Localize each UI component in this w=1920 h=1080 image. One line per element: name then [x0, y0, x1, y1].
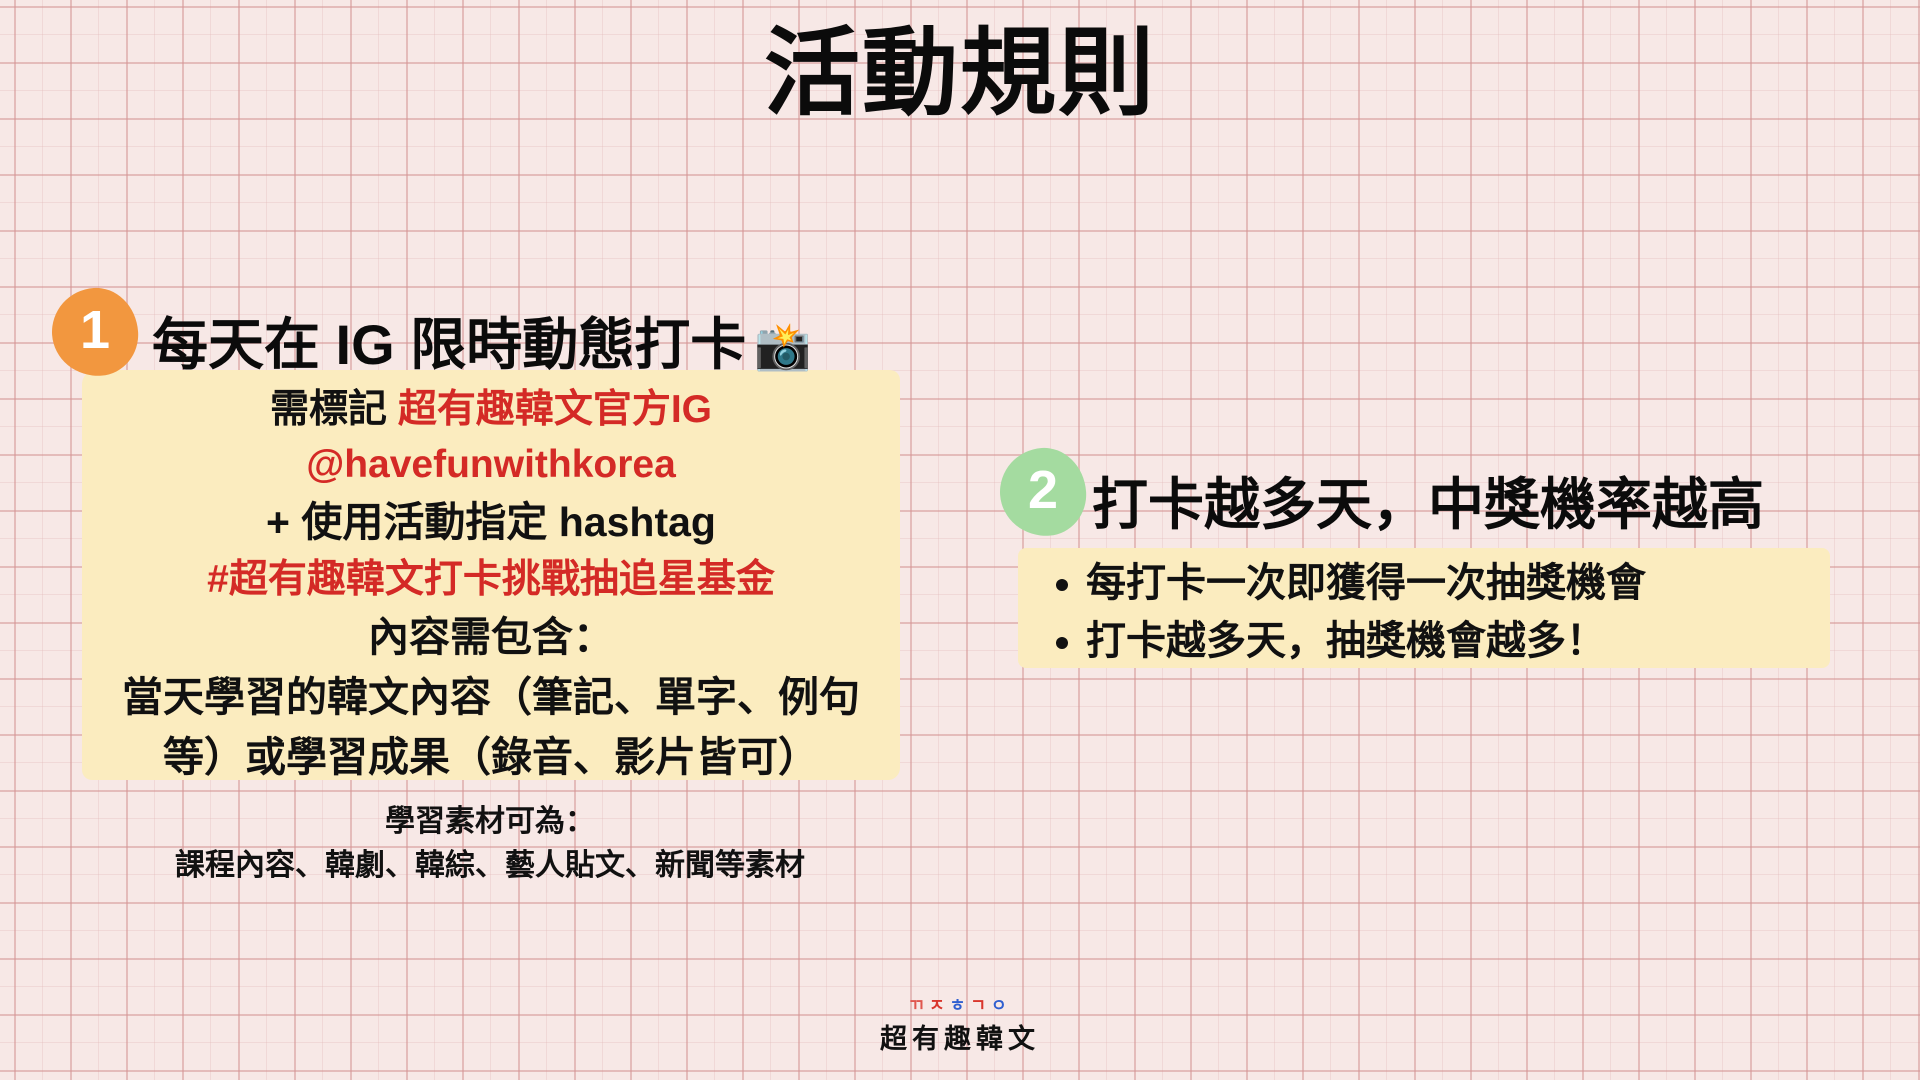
content-line-1-red: 超有趣韓文官方IG	[398, 388, 712, 431]
slide-canvas: 活動規則 1 每天在 IG 限時動態打卡📸 需標記 超有趣韓文官方IG @hav…	[0, 0, 1920, 1080]
section-1-content: 需標記 超有趣韓文官方IG @havefunwithkorea + 使用活動指定…	[82, 382, 900, 787]
step-badge-2: 2	[997, 445, 1089, 539]
step-badge-1-label: 1	[80, 303, 110, 361]
content-line-6: 當天學習的韓文內容（筆記、單字、例句	[82, 667, 900, 727]
content-line-3: + 使用活動指定 hashtag	[82, 492, 900, 552]
content-line-1-plain: 需標記	[270, 388, 398, 431]
content-line-7: 等）或學習成果（錄音、影片皆可）	[82, 727, 900, 787]
logo-jamo-row: ㄲㅈㅎㄱㅇ	[0, 996, 1920, 1016]
section-2-content: 每打卡一次即獲得一次抽獎機會 打卡越多天，抽獎機會越多！	[1042, 554, 1832, 670]
jamo-1: ㅈ	[929, 996, 950, 1016]
content-line-5: 內容需包含：	[82, 607, 900, 667]
step-badge-2-label: 2	[1028, 463, 1058, 521]
camera-flash-icon: 📸	[754, 320, 811, 372]
benefit-list: 每打卡一次即獲得一次抽獎機會 打卡越多天，抽獎機會越多！	[1042, 554, 1832, 670]
jamo-0: ㄲ	[908, 996, 929, 1016]
section-heading-1: 每天在 IG 限時動態打卡📸	[152, 300, 812, 381]
page-title: 活動規則	[0, 22, 1920, 126]
instagram-handle: @havefunwithkorea	[82, 437, 900, 492]
step-badge-1: 1	[49, 285, 141, 379]
content-line-1: 需標記 超有趣韓文官方IG	[82, 382, 900, 437]
list-item: 打卡越多天，抽獎機會越多！	[1086, 612, 1832, 670]
section-1-note: 學習素材可為： 課程內容、韓劇、韓綜、藝人貼文、新聞等素材	[40, 800, 940, 888]
list-item: 每打卡一次即獲得一次抽獎機會	[1086, 554, 1832, 612]
note-line-2: 課程內容、韓劇、韓綜、藝人貼文、新聞等素材	[40, 844, 940, 888]
section-heading-2: 打卡越多天，中獎機率越高	[1092, 460, 1764, 541]
note-line-1: 學習素材可為：	[40, 800, 940, 844]
jamo-2: ㅎ	[950, 996, 971, 1016]
jamo-4: ㅇ	[991, 996, 1012, 1016]
hashtag-text: #超有趣韓文打卡挑戰抽追星基金	[82, 552, 900, 607]
footer-logo: ㄲㅈㅎㄱㅇ 超有趣韓文	[0, 996, 1920, 1056]
brand-name: 超有趣韓文	[0, 1017, 1920, 1056]
section-heading-1-text: 每天在 IG 限時動態打卡	[152, 313, 746, 376]
jamo-3: ㄱ	[970, 996, 991, 1016]
